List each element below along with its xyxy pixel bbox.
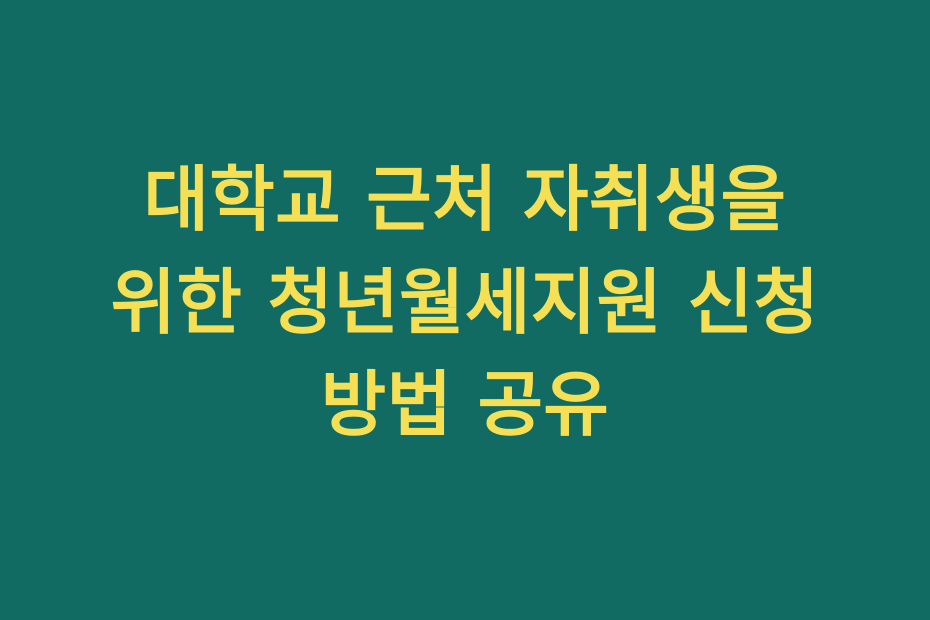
headline-line-1: 대학교 근처 자취생을 [24, 149, 906, 252]
headline-line-3: 방법 공유 [24, 354, 906, 457]
poster-canvas: 대학교 근처 자취생을 위한 청년월세지원 신청 방법 공유 [0, 0, 930, 620]
headline-block: 대학교 근처 자취생을 위한 청년월세지원 신청 방법 공유 [0, 149, 930, 458]
headline-line-2: 위한 청년월세지원 신청 [24, 252, 906, 355]
